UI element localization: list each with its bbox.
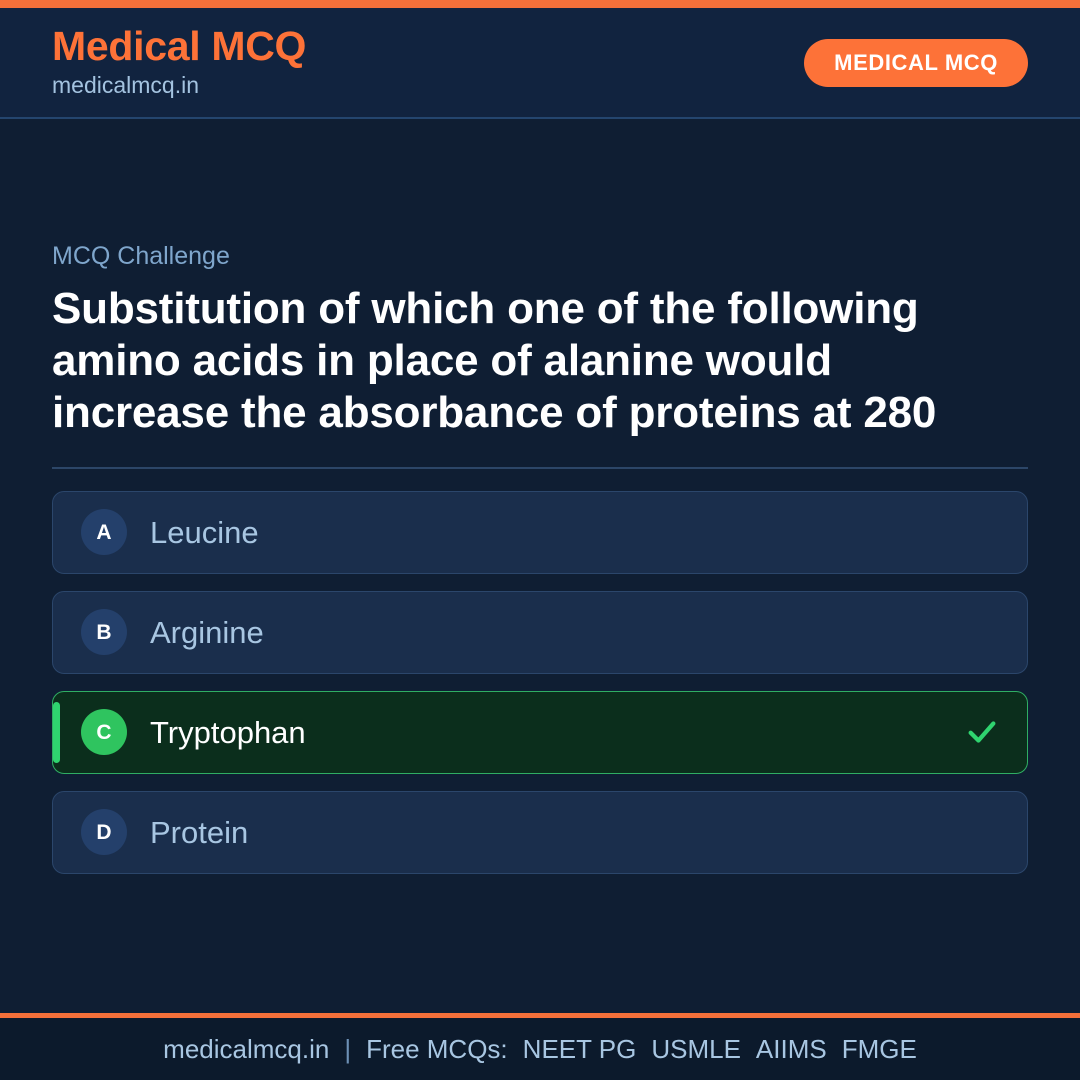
top-accent-bar <box>0 0 1080 8</box>
brand-subtitle: medicalmcq.in <box>52 71 306 101</box>
question-divider <box>52 467 1028 469</box>
option-c[interactable]: C Tryptophan <box>52 691 1028 774</box>
footer-label: Free MCQs: <box>366 1036 508 1062</box>
question-text: Substitution of which one of the followi… <box>52 283 1012 439</box>
header-badge[interactable]: MEDICAL MCQ <box>804 39 1028 87</box>
footer-tag-aiims[interactable]: AIIMS <box>756 1036 827 1062</box>
option-d[interactable]: D Protein <box>52 791 1028 874</box>
option-letter-badge: A <box>81 509 127 555</box>
option-a[interactable]: A Leucine <box>52 491 1028 574</box>
check-icon <box>965 715 999 749</box>
option-label: Arginine <box>150 614 999 651</box>
option-letter-badge: D <box>81 809 127 855</box>
question-area: MCQ Challenge Substitution of which one … <box>0 119 1080 1013</box>
footer-tags: NEET PG USMLE AIIMS FMGE <box>523 1036 917 1062</box>
option-label: Leucine <box>150 514 999 551</box>
brand-block: Medical MCQ medicalmcq.in <box>52 25 306 101</box>
eyebrow-label: MCQ Challenge <box>52 241 1028 271</box>
option-b[interactable]: B Arginine <box>52 591 1028 674</box>
options-list: A Leucine B Arginine C Tryptophan <box>52 491 1028 874</box>
footer-tag-neet-pg[interactable]: NEET PG <box>523 1036 637 1062</box>
option-label: Protein <box>150 814 999 851</box>
app-footer: medicalmcq.in | Free MCQs: NEET PG USMLE… <box>0 1013 1080 1080</box>
mcq-card: Medical MCQ medicalmcq.in MEDICAL MCQ MC… <box>0 0 1080 1080</box>
footer-separator: | <box>344 1036 351 1062</box>
brand-title: Medical MCQ <box>52 25 306 68</box>
footer-content: medicalmcq.in | Free MCQs: NEET PG USMLE… <box>163 1036 917 1062</box>
option-letter-badge: B <box>81 609 127 655</box>
app-header: Medical MCQ medicalmcq.in MEDICAL MCQ <box>0 8 1080 119</box>
option-letter-badge: C <box>81 709 127 755</box>
footer-tag-usmle[interactable]: USMLE <box>651 1036 741 1062</box>
option-label: Tryptophan <box>150 714 965 751</box>
footer-tag-fmge[interactable]: FMGE <box>842 1036 917 1062</box>
footer-site[interactable]: medicalmcq.in <box>163 1036 329 1062</box>
